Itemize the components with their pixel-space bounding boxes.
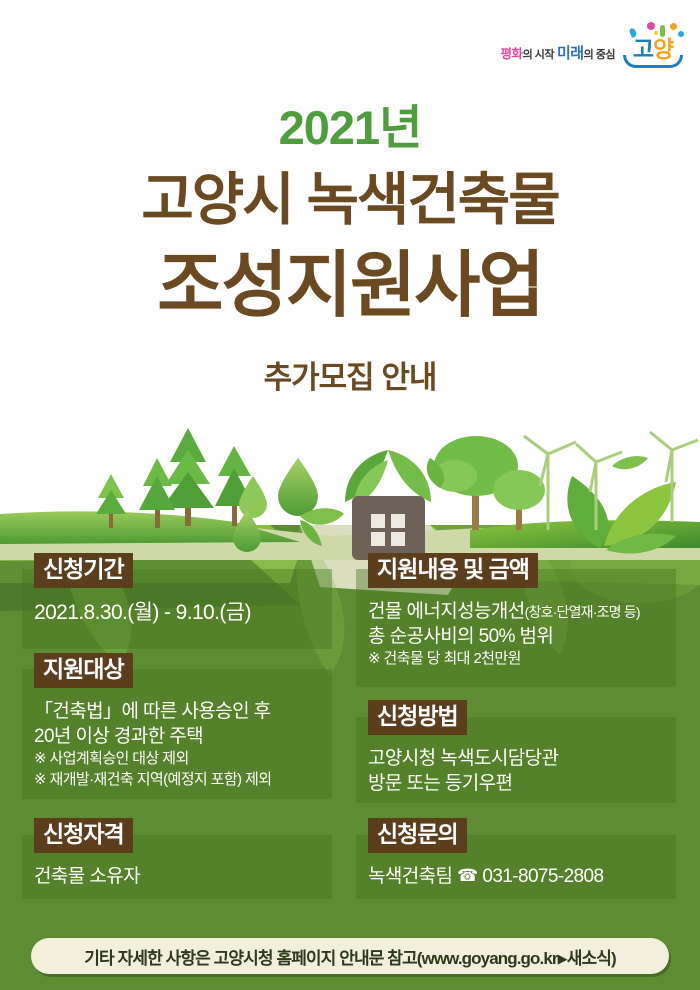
slogan-peace: 평화 xyxy=(501,47,523,61)
confetti-dot-blue-icon xyxy=(678,31,684,37)
support-content-inline-note: (창호·단열재·조명 등) xyxy=(525,604,640,620)
section-application-inquiry: 신청문의 녹색건축팀 ☎ 031-8075-2808 xyxy=(368,818,690,890)
application-method-line-1: 고양시청 녹색도시담당관 xyxy=(368,747,690,772)
section-heading-eligible-target: 지원대상 xyxy=(34,653,133,688)
section-heading-support-content: 지원내용 및 금액 xyxy=(368,553,538,588)
section-support-content: 지원내용 및 금액 건물 에너지성능개선(창호·단열재·조명 등) 총 순공사비… xyxy=(368,553,690,670)
brand-smile-icon xyxy=(623,55,683,68)
section-heading-application-inquiry: 신청문의 xyxy=(368,818,467,853)
goyang-city-logo: 평화의 시작 미래의 중심 고양 xyxy=(501,22,686,68)
section-application-method: 신청방법 고양시청 녹색도시담당관 방문 또는 등기우편 xyxy=(368,700,690,796)
eligible-target-note-1: ※ 사업계획승인 대상 제외 xyxy=(34,749,354,770)
footer-text-before: 기타 자세한 사항은 고양시청 홈페이지 안내문 참고(www.goyang.g… xyxy=(84,949,557,968)
inquiry-phone-number: 031-8075-2808 xyxy=(482,866,603,887)
brand-slogan: 평화의 시작 미래의 중심 xyxy=(501,46,615,68)
section-body-support-content: 건물 에너지성능개선(창호·단열재·조명 등) 총 순공사비의 50% 범위 ※… xyxy=(368,600,690,670)
slogan-peace-tail: 의 시작 xyxy=(523,49,554,61)
round-tree-group xyxy=(427,436,545,530)
brand-mark: 고양 xyxy=(620,22,686,68)
section-application-period: 신청기간 2021.8.30.(월) - 9.10.(금) xyxy=(34,553,354,627)
section-body-eligible-target: 「건축법」에 따른 사용승인 후 20년 이상 경과한 주택 ※ 사업계획승인 … xyxy=(34,700,354,791)
confetti-dot-orange-icon xyxy=(670,23,677,30)
footer-notice-text: 기타 자세한 사항은 고양시청 홈페이지 안내문 참고(www.goyang.g… xyxy=(84,944,615,969)
section-body-application-method: 고양시청 녹색도시담당관 방문 또는 등기우편 xyxy=(368,747,690,796)
eligible-target-line-1: 「건축법」에 따른 사용승인 후 xyxy=(34,700,354,725)
support-content-line-1: 건물 에너지성능개선(창호·단열재·조명 등) xyxy=(368,600,690,625)
slogan-future: 미래 xyxy=(557,45,584,62)
eligible-target-line-2: 20년 이상 경과한 주택 xyxy=(34,725,354,750)
footer-text-after: 새소식) xyxy=(567,949,616,968)
section-applicant-qualification: 신청자격 건축물 소유자 xyxy=(34,818,354,890)
eligible-target-note-2: ※ 재개발·재건축 지역(예정지 포함) 제외 xyxy=(34,770,354,791)
slogan-future-tail: 의 중심 xyxy=(584,49,615,61)
support-content-line-2: 총 순공사비의 50% 범위 xyxy=(368,625,690,650)
section-body-application-inquiry: 녹색건축팀 ☎ 031-8075-2808 xyxy=(368,865,690,890)
title-line-1: 고양시 녹색건축물 xyxy=(0,172,700,229)
title-line-2: 조성지원사업 xyxy=(0,250,700,322)
section-body-application-period: 2021.8.30.(월) - 9.10.(금) xyxy=(34,600,354,627)
section-heading-applicant-qualification: 신청자격 xyxy=(34,818,133,853)
section-heading-application-method: 신청방법 xyxy=(368,700,467,735)
footer-arrow-icon: ▶ xyxy=(558,951,567,966)
inquiry-team: 녹색건축팀 xyxy=(368,866,452,887)
wind-turbine-group xyxy=(524,432,698,530)
title-year: 2021년 xyxy=(0,104,700,151)
inquiry-line: 녹색건축팀 ☎ 031-8075-2808 xyxy=(368,865,690,890)
confetti-dot-pink-icon xyxy=(647,22,655,30)
section-eligible-target: 지원대상 「건축법」에 따른 사용승인 후 20년 이상 경과한 주택 ※ 사업… xyxy=(34,653,354,791)
application-method-line-2: 방문 또는 등기우편 xyxy=(368,772,690,797)
applicant-qualification-text: 건축물 소유자 xyxy=(34,865,354,890)
section-heading-application-period: 신청기간 xyxy=(34,553,133,588)
leaf-roof-house-icon xyxy=(345,450,431,560)
section-body-applicant-qualification: 건축물 소유자 xyxy=(34,865,354,890)
footer-notice-bar: 기타 자세한 사항은 고양시청 홈페이지 안내문 참고(www.goyang.g… xyxy=(31,938,669,974)
telephone-icon: ☎ xyxy=(457,866,478,885)
support-content-main: 건물 에너지성능개선 xyxy=(368,601,525,622)
title-subtitle: 추가모집 안내 xyxy=(0,362,700,393)
application-period-dates: 2021.8.30.(월) - 9.10.(금) xyxy=(34,600,354,627)
confetti-dot-yellow-icon xyxy=(654,31,658,35)
poster-root: 평화의 시작 미래의 중심 고양 2021년 고양시 녹색건축물 조성지원사업 … xyxy=(0,0,700,990)
pine-tree-group xyxy=(96,428,254,528)
green-landscape-illustration xyxy=(0,410,700,560)
support-content-note-1: ※ 건축물 당 최대 2천만원 xyxy=(368,649,690,670)
